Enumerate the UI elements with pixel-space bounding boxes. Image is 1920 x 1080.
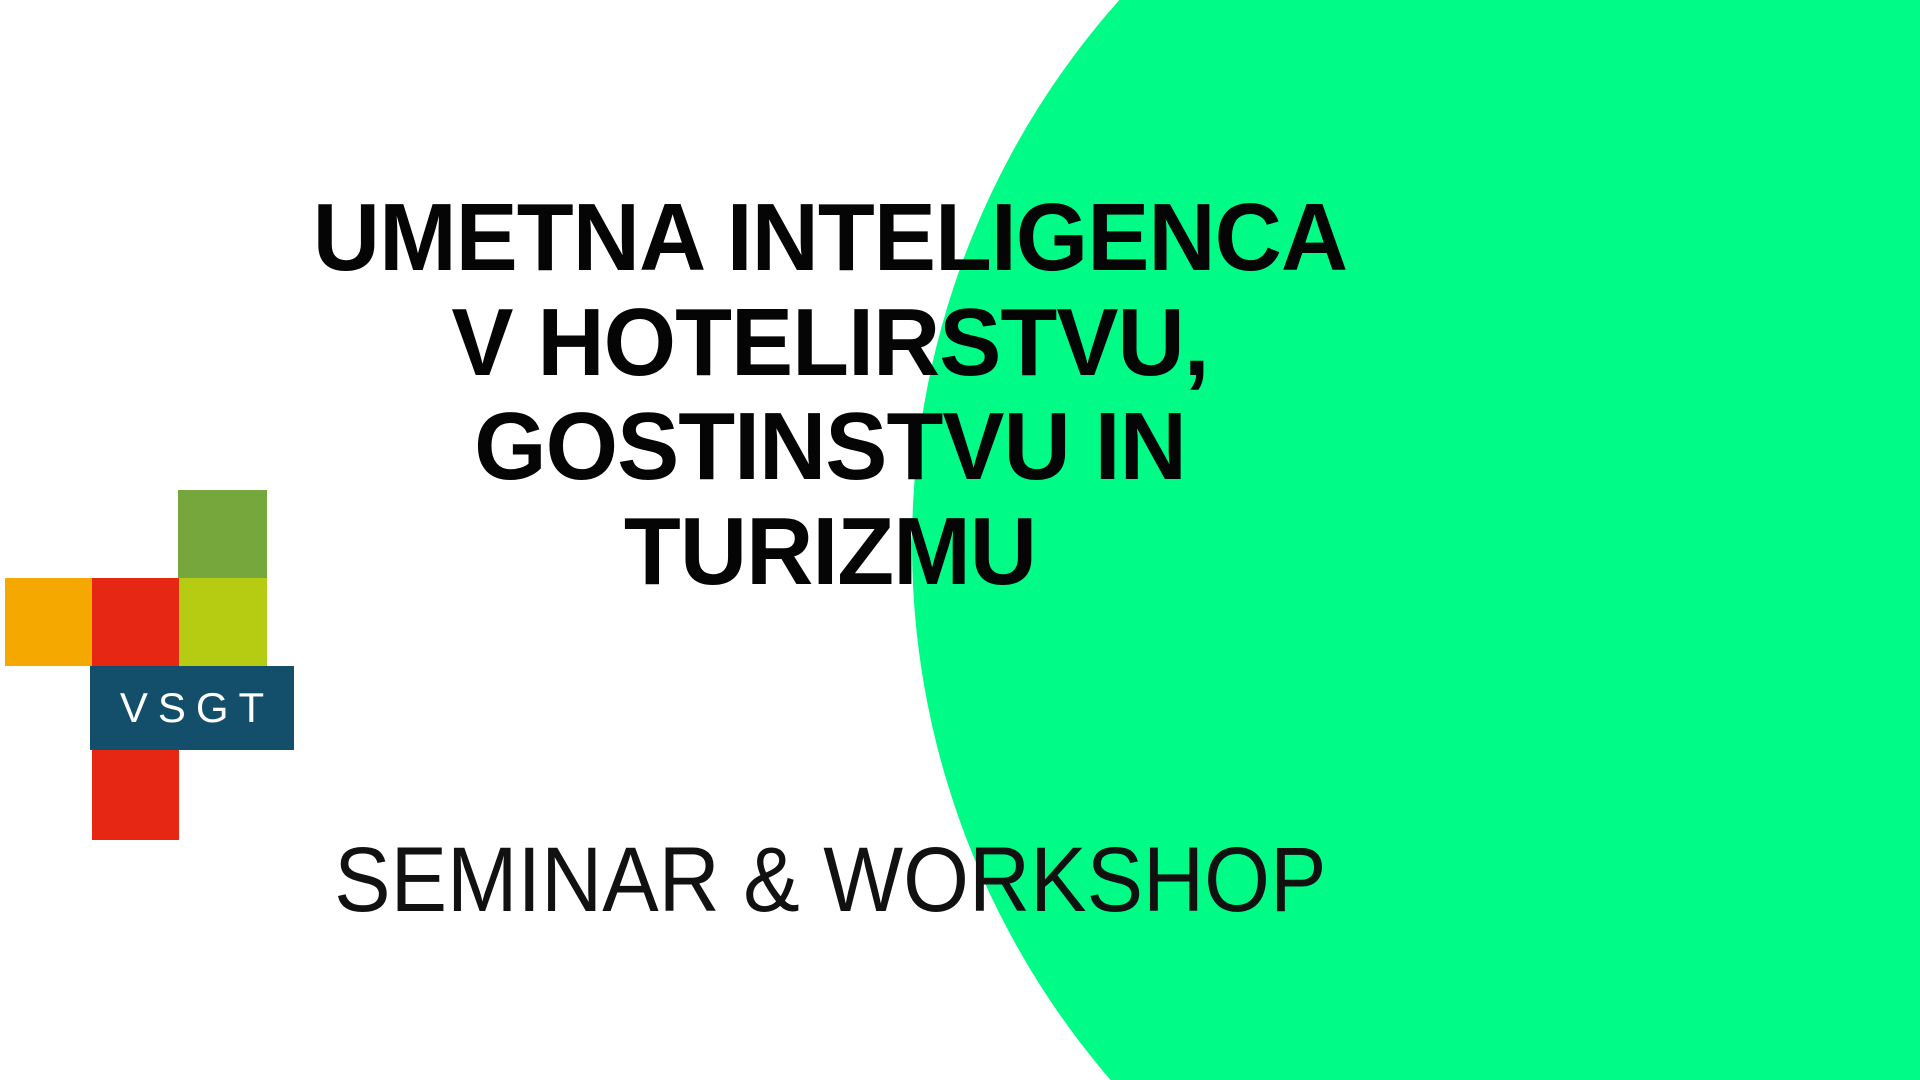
logo-tile-red-middle <box>92 578 179 666</box>
subtitle-text: SEMINAR & WORKSHOP <box>334 830 1326 931</box>
page-title: UMETNA INTELIGENCA V HOTELIRSTVU, GOSTIN… <box>170 186 1490 605</box>
logo-wordmark-band: VSGT <box>90 666 294 750</box>
headline-line-2: V HOTELIRSTVU, <box>190 291 1470 396</box>
headline-line-1: UMETNA INTELIGENCA <box>190 186 1470 291</box>
headline-line-3: GOSTINSTVU IN <box>190 395 1470 500</box>
subtitle: SEMINAR & WORKSHOP <box>170 830 1490 931</box>
poster-canvas: VSGT UMETNA INTELIGENCA V HOTELIRSTVU, G… <box>0 0 1920 1080</box>
logo-tile-red-bottom <box>92 750 179 840</box>
logo-tile-orange <box>5 578 93 666</box>
headline-line-4: TURIZMU <box>190 500 1470 605</box>
logo-wordmark-text: VSGT <box>110 687 274 729</box>
